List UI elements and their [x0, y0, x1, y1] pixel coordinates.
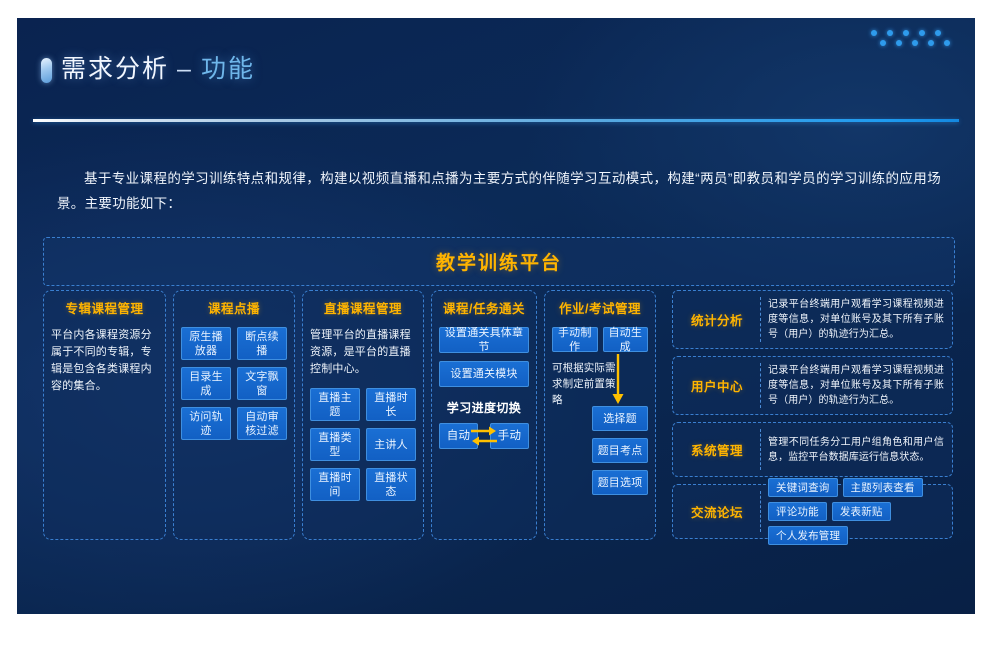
right-panel: 统计分析 记录平台终端用户观看学习课程视频进度等信息，对单位账号及其下所有子账号…	[672, 290, 953, 540]
column-button-grid: 原生播放器 断点续播 目录生成 文字飘窗 访问轨迹 自动审核过滤	[181, 327, 287, 440]
panel-row-description: 记录平台终端用户观看学习课程视频进度等信息，对单位账号及其下所有子账号（用户）的…	[768, 297, 944, 342]
feature-button[interactable]: 文字飘窗	[237, 367, 287, 400]
column-homework-exam-management: 作业/考试管理 手动制作 自动生成 可根据实际需求制定前置策略 选择题 题目考点…	[544, 290, 656, 540]
feature-button[interactable]: 直播主题	[310, 388, 360, 421]
feature-button[interactable]: 直播时长	[366, 388, 416, 421]
forum-button[interactable]: 主题列表查看	[843, 478, 923, 497]
forum-button[interactable]: 个人发布管理	[768, 526, 848, 545]
arrow-down-icon	[610, 354, 626, 411]
feature-button[interactable]: 题目考点	[592, 438, 648, 463]
panel-row-divider	[760, 429, 761, 470]
forum-button[interactable]: 评论功能	[768, 502, 827, 521]
platform-banner-title: 教学训练平台	[436, 248, 562, 275]
feature-button[interactable]: 断点续播	[237, 327, 287, 360]
panel-row-divider	[760, 297, 761, 342]
feature-button[interactable]: 原生播放器	[181, 327, 231, 360]
panel-row-statistics: 统计分析 记录平台终端用户观看学习课程视频进度等信息，对单位账号及其下所有子账号…	[672, 290, 953, 349]
decorative-dot	[887, 30, 893, 36]
header-underline	[33, 119, 959, 122]
column-title: 课程点播	[208, 301, 260, 317]
feature-button[interactable]: 主讲人	[366, 428, 416, 461]
panel-row-label: 系统管理	[681, 440, 753, 459]
platform-banner: 教学训练平台	[43, 237, 955, 286]
panel-row-description: 管理不同任务分工用户组角色和用户信息，监控平台数据库运行信息状态。	[768, 435, 944, 465]
page-title: 需求分析	[61, 51, 169, 87]
feature-button[interactable]: 设置通关具体章节	[439, 327, 529, 353]
column-note-row: 可根据实际需求制定前置策略	[552, 360, 648, 406]
dot-grid-icon	[871, 30, 953, 58]
column-description: 管理平台的直播课程资源，是平台的直播控制中心。	[310, 327, 416, 378]
decorative-dot	[880, 40, 886, 46]
column-course-on-demand: 课程点播 原生播放器 断点续播 目录生成 文字飘窗 访问轨迹 自动审核过滤	[173, 290, 295, 540]
decorative-dot	[903, 30, 909, 36]
panel-row-label: 统计分析	[681, 310, 753, 329]
decorative-dot	[928, 40, 934, 46]
forum-button-group: 关键词查询 主题列表查看 评论功能 发表新贴 个人发布管理	[768, 478, 944, 545]
slide-header: 需求分析 – 功能	[17, 18, 975, 103]
progress-switch: 自动 手动	[439, 422, 529, 450]
column-album-course-management: 专辑课程管理 平台内各课程资源分属于不同的专辑，专辑是包含各类课程内容的集合。	[43, 290, 166, 540]
column-button-stack: 设置通关具体章节 设置通关模块	[439, 327, 529, 387]
feature-button[interactable]: 题目选项	[592, 470, 648, 495]
decorative-dot	[912, 40, 918, 46]
forum-button[interactable]: 发表新贴	[832, 502, 891, 521]
column-button-stack: 选择题 题目考点 题目选项	[592, 406, 648, 495]
panel-row-forum: 交流论坛 关键词查询 主题列表查看 评论功能 发表新贴 个人发布管理	[672, 484, 953, 539]
decorative-dot	[944, 40, 950, 46]
column-button-grid: 直播主题 直播时长 直播类型 主讲人 直播时间 直播状态	[310, 388, 416, 501]
panel-row-description: 记录平台终端用户观看学习课程视频进度等信息，对单位账号及其下所有子账号（用户）的…	[768, 363, 944, 408]
panel-row-user-center: 用户中心 记录平台终端用户观看学习课程视频进度等信息，对单位账号及其下所有子账号…	[672, 356, 953, 415]
column-title: 专辑课程管理	[65, 301, 143, 317]
column-note: 可根据实际需求制定前置策略	[552, 360, 618, 406]
column-button-row: 手动制作 自动生成	[552, 327, 648, 352]
column-live-course-management: 直播课程管理 管理平台的直播课程资源，是平台的直播控制中心。 直播主题 直播时长…	[302, 290, 424, 540]
bidirectional-arrow-icon	[478, 423, 490, 449]
panel-row-divider	[760, 363, 761, 408]
column-title: 课程/任务通关	[443, 301, 525, 317]
column-title: 作业/考试管理	[559, 301, 641, 317]
column-description: 平台内各课程资源分属于不同的专辑，专辑是包含各类课程内容的集合。	[51, 327, 158, 395]
feature-button[interactable]: 手动制作	[552, 327, 598, 352]
feature-button[interactable]: 直播时间	[310, 468, 360, 501]
intro-paragraph: 基于专业课程的学习训练特点和规律，构建以视频直播和点播为主要方式的伴随学习互动模…	[57, 166, 941, 216]
feature-button[interactable]: 自动审核过滤	[237, 407, 287, 440]
panel-row-label: 用户中心	[681, 376, 753, 395]
decorative-dot	[871, 30, 877, 36]
panel-row-system-management: 系统管理 管理不同任务分工用户组角色和用户信息，监控平台数据库运行信息状态。	[672, 422, 953, 477]
pill-icon	[41, 58, 52, 83]
feature-button[interactable]: 直播类型	[310, 428, 360, 461]
decorative-dot	[896, 40, 902, 46]
feature-button[interactable]: 自动生成	[603, 327, 649, 352]
page-subtitle: 功能	[201, 51, 255, 87]
feature-button[interactable]: 直播状态	[366, 468, 416, 501]
slide-canvas: 需求分析 – 功能 基于专业课程的学习训练特点和规律，构建以视频直播和点播为主要…	[17, 18, 975, 614]
decorative-dot	[919, 30, 925, 36]
title-separator: –	[177, 51, 191, 87]
switch-label: 学习进度切换	[447, 399, 521, 416]
feature-button[interactable]: 访问轨迹	[181, 407, 231, 440]
decorative-dot	[935, 30, 941, 36]
feature-button[interactable]: 目录生成	[181, 367, 231, 400]
panel-row-label: 交流论坛	[681, 502, 753, 521]
column-course-task-clearance: 课程/任务通关 设置通关具体章节 设置通关模块 学习进度切换 自动 手动	[431, 290, 537, 540]
feature-button[interactable]: 设置通关模块	[439, 361, 529, 387]
forum-button[interactable]: 关键词查询	[768, 478, 838, 497]
panel-row-divider	[760, 491, 761, 532]
column-title: 直播课程管理	[324, 301, 402, 317]
